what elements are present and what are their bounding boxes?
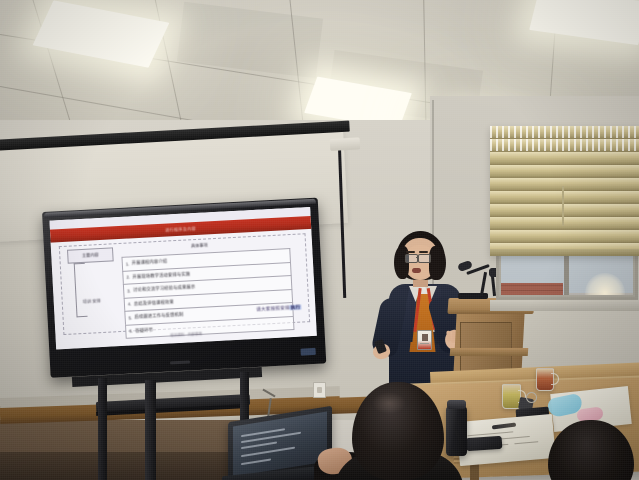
handwriting-line: [514, 441, 538, 444]
blind-fold: [490, 204, 639, 218]
blind-fold: [490, 178, 639, 192]
brick-building-outside: [501, 283, 563, 295]
slide-row-num: 1.: [126, 261, 130, 266]
slide-row-num: 4.: [128, 302, 132, 307]
slide-body: 主要内容 培训 安排 具体事项 1. 开展课程内容介绍 2. 开展现场教学活动安…: [51, 229, 317, 350]
slide-row-num: 3.: [127, 288, 131, 293]
blind-cord[interactable]: [562, 186, 564, 226]
glasses-bridge: [416, 257, 419, 258]
slide-row-text: 后续跟进工作与反馈机制: [134, 312, 183, 321]
slide-column-header: 具体事项: [191, 242, 208, 249]
monitor-screen[interactable]: 进行程序及内容 主要内容 培训 安排 具体事项 1. 开展课程内容介绍: [49, 207, 316, 349]
slide-row-list: 1. 开展课程内容介绍 2. 开展现场教学活动安排与实施 3. 讨论和交流学习经…: [121, 248, 294, 339]
monitor-brand-logo: [301, 348, 316, 356]
wall-outlet-icon: [313, 382, 326, 398]
slide-footnote-highlight: 执行: [290, 305, 302, 311]
blind-fold: [490, 126, 639, 140]
key-ring: [526, 392, 537, 403]
presenter-mouth: [412, 268, 421, 273]
presentation-slide: 进行程序及内容 主要内容 培训 安排 具体事项 1. 开展课程内容介绍: [49, 207, 316, 349]
black-tumbler: [446, 406, 467, 456]
blind-fold: [490, 217, 639, 231]
tumbler-cap: [447, 400, 466, 409]
laptop-screen-text-line: [241, 441, 277, 448]
audience-hair-highlight: [372, 392, 406, 414]
slide-row-text: 开展现场教学活动安排与实施: [132, 271, 190, 280]
blind-perforation: [490, 126, 639, 138]
slide-row-text: 答疑环节: [135, 327, 153, 334]
lectern-shelf: [450, 348, 529, 356]
blind-fold: [490, 139, 639, 153]
microphone-base: [458, 293, 488, 299]
slide-left-box-label: 主要内容: [82, 252, 99, 259]
blind-fold: [490, 191, 639, 205]
slide-row-text: 开展课程内容介绍: [132, 259, 168, 267]
blind-bottom-rail: [490, 249, 639, 256]
wall-display-monitor[interactable]: 进行程序及内容 主要内容 培训 安排 具体事项 1. 开展课程内容介绍: [42, 198, 326, 378]
presenter-id-badge: [417, 330, 432, 350]
sun-glare: [585, 273, 625, 295]
badge-photo: [422, 334, 428, 341]
slide-footnote-prefix: 请大家按照安排: [256, 305, 290, 312]
slide-row-text: 讨论和交流学习经验与成果展示: [133, 284, 195, 293]
slide-row-num: 2.: [126, 275, 130, 280]
lecture-room-photo: 进行程序及内容 主要内容 培训 安排 具体事项 1. 开展课程内容介绍: [0, 0, 639, 480]
blind-fold: [490, 165, 639, 179]
window-sill: [490, 300, 639, 311]
slide-row-num: 5.: [129, 315, 133, 320]
blind-fold: [490, 152, 639, 166]
slide-left-box: 主要内容: [67, 247, 114, 263]
window-blind[interactable]: [490, 126, 639, 256]
presenter-eyebrow-right: [419, 251, 428, 253]
blind-perforation: [490, 139, 639, 151]
av-cart-center-column: [145, 380, 156, 480]
blind-fold: [490, 230, 639, 244]
glasses-lens-right: [418, 254, 431, 263]
presenter-hair-right-side: [429, 246, 446, 280]
badge-text-line: [420, 343, 429, 344]
window: [496, 148, 638, 300]
floor-shadow: [0, 452, 240, 480]
slide-title: 进行程序及内容: [165, 225, 196, 233]
black-smartphone: [466, 436, 503, 451]
slide-row-num: 6.: [129, 329, 133, 334]
slide-row-text: 总结及评估课程效果: [134, 299, 174, 307]
laptop-screen-text-line: [241, 458, 271, 464]
glasses-lens-left: [405, 254, 418, 263]
projector-screen-housing-cap: [330, 137, 361, 151]
av-cart-leg-left: [98, 378, 107, 480]
laptop-screen-text-line: [241, 447, 295, 457]
presenter-eyebrow-left: [406, 251, 415, 253]
